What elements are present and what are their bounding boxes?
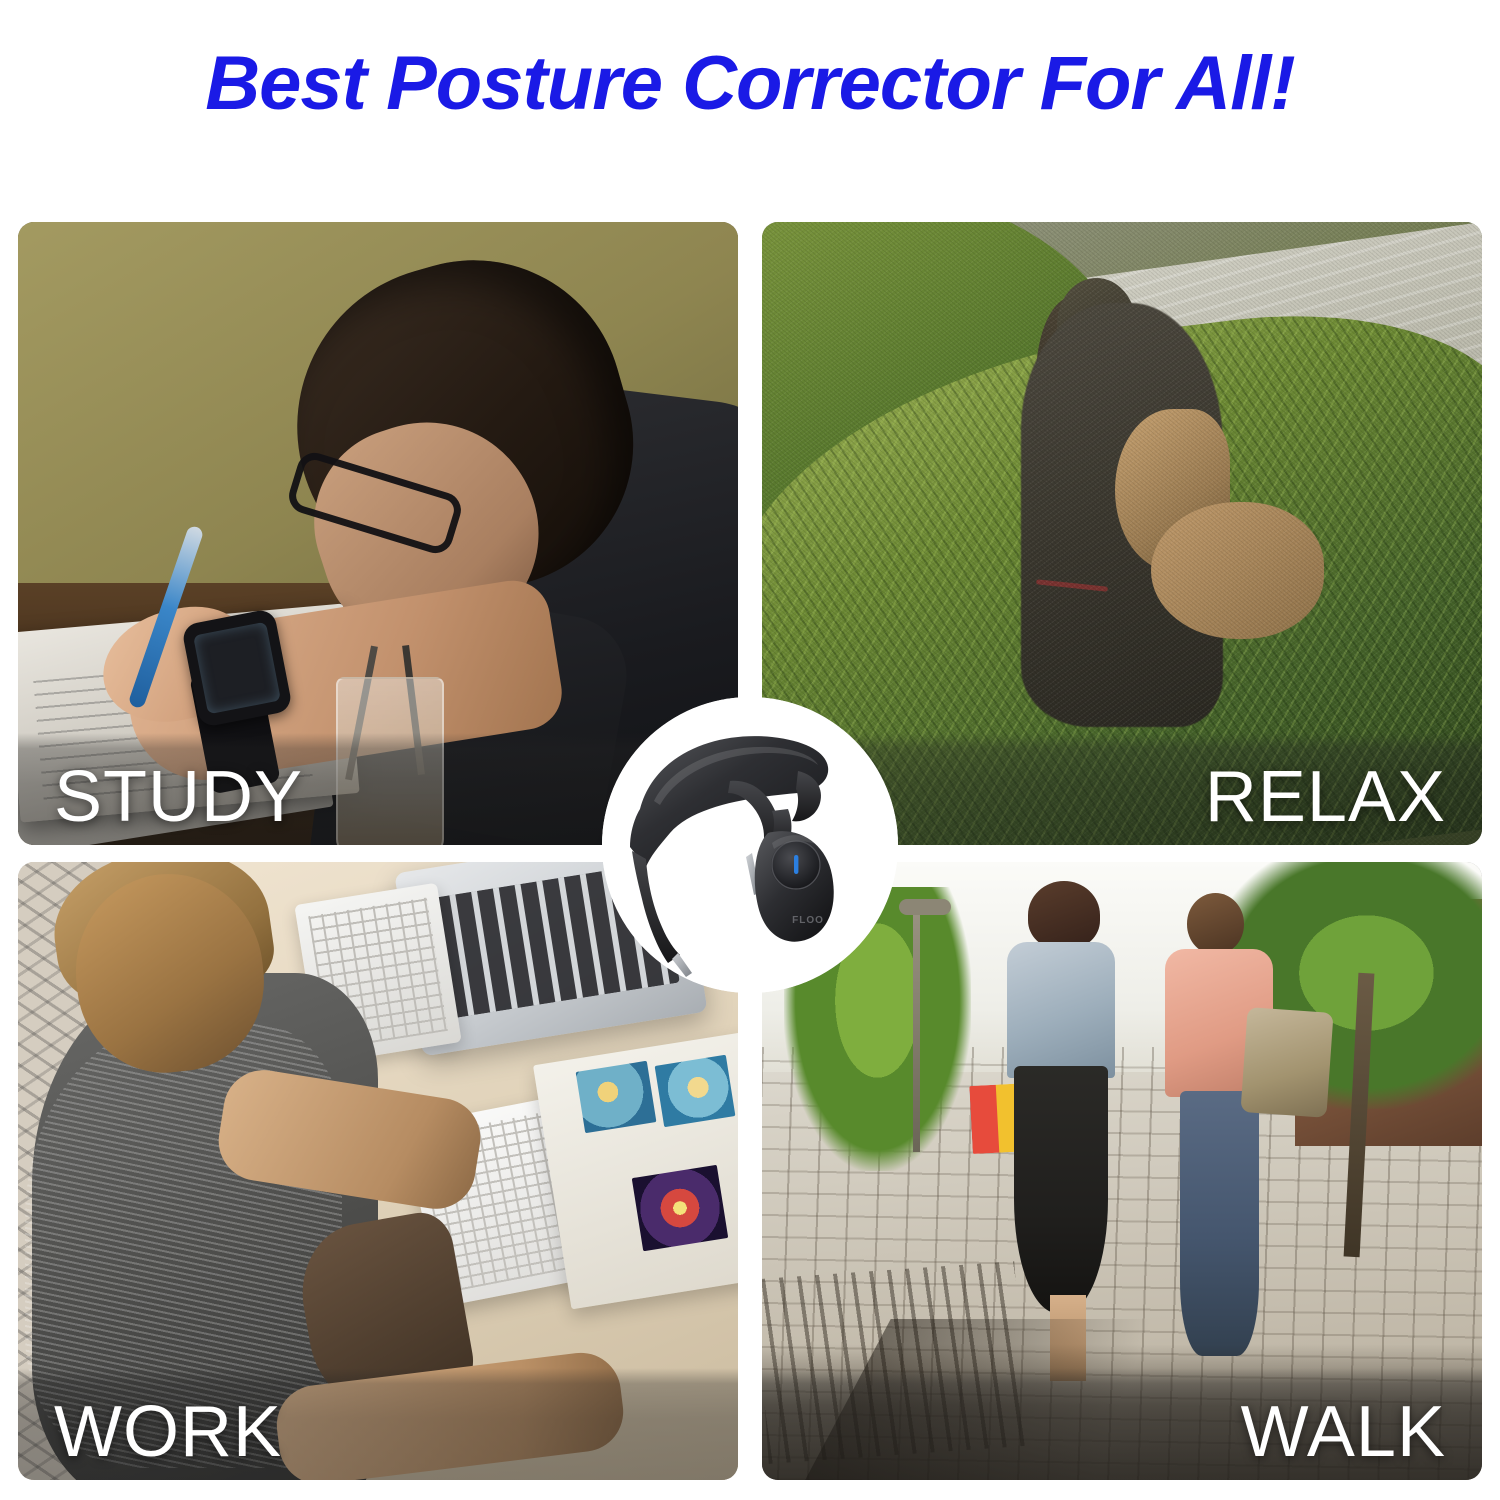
device-brand-mark: FLOO	[792, 915, 824, 926]
device-led-indicator	[794, 855, 798, 874]
tile-caption-study: STUDY	[54, 761, 303, 833]
tile-caption-relax: RELAX	[1205, 761, 1446, 833]
tile-caption-walk: WALK	[1241, 1396, 1446, 1468]
page-title: Best Posture Corrector For All!	[0, 46, 1500, 122]
poster-canvas: Best Posture Corrector For All!	[0, 0, 1500, 1500]
tile-caption-work: WORK	[54, 1396, 282, 1468]
posture-corrector-device-illustration: FLOO	[602, 697, 898, 993]
product-badge-circle: FLOO	[602, 697, 898, 993]
